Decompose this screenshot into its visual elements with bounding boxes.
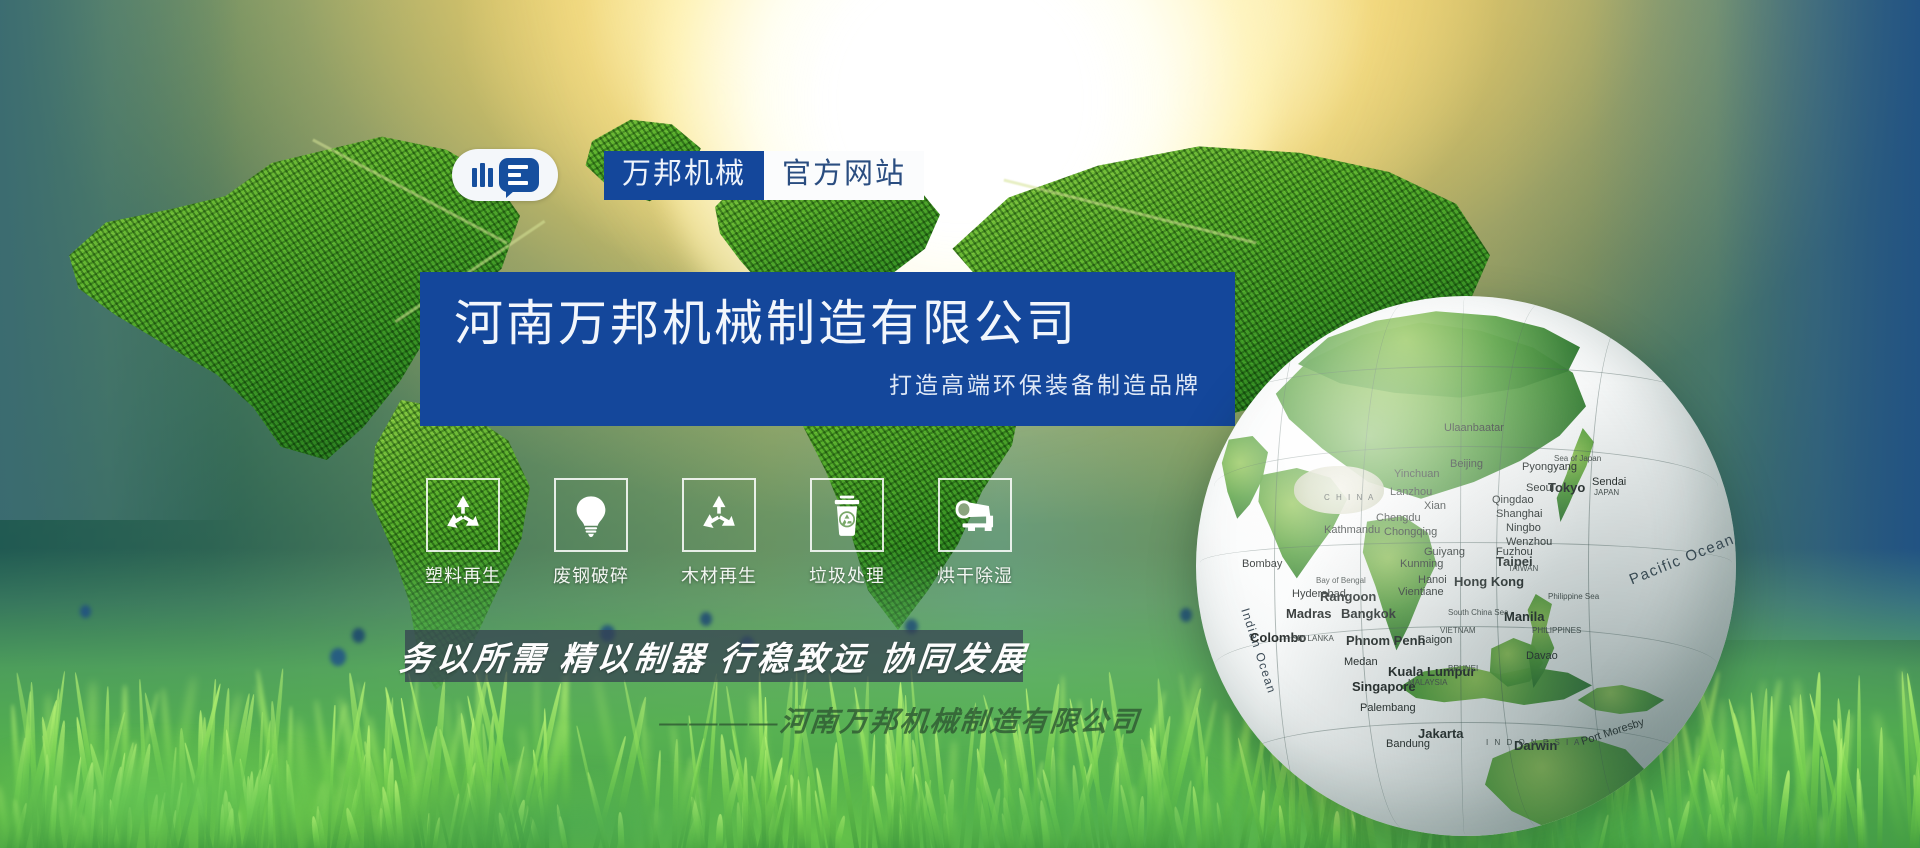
service-item-scrap-steel-crushing[interactable]: 废钢破碎 [548,478,634,588]
lightbulb-icon [568,492,614,538]
page-subtitle: 打造高端环保装备制造品牌 [454,366,1201,400]
recycle-icon [696,492,742,538]
service-label: 塑料再生 [425,562,501,588]
service-item-waste-treatment[interactable]: 垃圾处理 [804,478,890,588]
service-icon-frame [554,478,628,552]
service-label: 烘干除湿 [937,562,1013,588]
tagline-attribution: ————河南万邦机械制造有限公司 [658,700,1082,740]
tagline-text: 务以所需 精以制器 行稳致远 协同发展 [397,632,1031,680]
logo-w-mark [472,163,493,187]
grass-bud [1180,608,1192,622]
service-label: 木材再生 [681,562,757,588]
grass-bud [700,612,712,626]
grass-bud [330,648,346,666]
service-icon-frame [426,478,500,552]
brand-name-label: 万邦机械 [604,151,764,200]
service-label: 垃圾处理 [809,562,885,588]
service-item-plastic-recycling[interactable]: 塑料再生 [420,478,506,588]
globe-sphere: Pacific Ocean Indian Ocean Hong Kong Man… [1196,296,1736,836]
service-icon-frame [682,478,756,552]
official-site-label: 官方网站 [764,151,924,200]
globe-shading [1196,296,1736,836]
hero-title-panel: 河南万邦机械制造有限公司 打造高端环保装备制造品牌 [420,272,1235,426]
tagline-banner: 务以所需 精以制器 行稳致远 协同发展 [405,630,1023,682]
globe-graphic: Pacific Ocean Indian Ocean Hong Kong Man… [1196,296,1736,836]
page-title: 河南万邦机械制造有限公司 [454,298,1201,352]
grass-bud [352,628,365,643]
service-icon-row: 塑料再生 废钢破碎 [420,478,1018,588]
logo-badge[interactable] [452,149,558,201]
service-item-wood-recycling[interactable]: 木材再生 [676,478,762,588]
dryer-drum-icon [950,492,1000,538]
site-logo-row[interactable]: 万邦机械 官方网站 [452,148,924,202]
hero-banner: 万邦机械 官方网站 河南万邦机械制造有限公司 打造高端环保装备制造品牌 塑料再生 [0,0,1920,848]
recycle-icon [440,492,486,538]
service-label: 废钢破碎 [553,562,629,588]
service-item-drying-dehumidification[interactable]: 烘干除湿 [932,478,1018,588]
logo-speech-bubble-b-mark [499,158,539,192]
trash-bin-icon [824,492,870,538]
grass-bud [80,605,91,618]
service-icon-frame [938,478,1012,552]
service-icon-frame [810,478,884,552]
